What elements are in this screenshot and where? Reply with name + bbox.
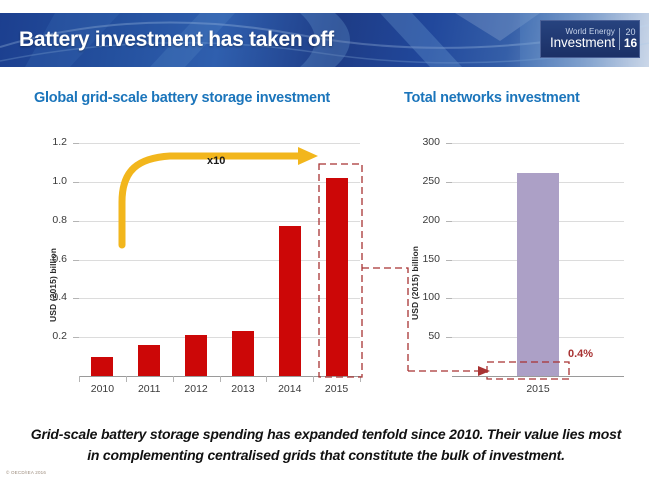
x-tick-label: 2012	[173, 383, 220, 395]
bar	[517, 173, 559, 376]
y-tick-mark	[446, 298, 452, 299]
y-tick-label: 50	[408, 331, 440, 341]
page-title: Battery investment has taken off	[19, 28, 334, 52]
right-chart-title: Total networks investment	[404, 90, 580, 106]
y-tick-label: 100	[408, 292, 440, 302]
logo-line-investment: Investment	[546, 36, 615, 50]
y-tick-mark	[73, 298, 79, 299]
logo-year-short: 16	[622, 37, 639, 49]
share-percentage-label: 0.4%	[568, 348, 593, 360]
bar	[185, 335, 207, 376]
caption-text: Grid-scale battery storage spending has …	[26, 424, 626, 466]
y-tick-label: 200	[408, 215, 440, 225]
right-chart-plot: USD (2015) billion 501001502002503002015	[400, 130, 640, 395]
x-tick-label: 2011	[126, 383, 173, 395]
gridline	[79, 298, 360, 299]
y-tick-mark	[446, 182, 452, 183]
logo-text-block: World Energy Investment	[541, 28, 620, 50]
y-tick-label: 150	[408, 254, 440, 264]
bar	[91, 357, 113, 376]
y-tick-label: 250	[408, 176, 440, 186]
x-tick-separator	[266, 376, 267, 382]
y-tick-mark	[446, 337, 452, 338]
y-tick-mark	[446, 221, 452, 222]
gridline	[79, 337, 360, 338]
y-tick-label: 0.2	[35, 331, 67, 341]
y-tick-mark	[446, 143, 452, 144]
x-tick-separator	[220, 376, 221, 382]
x-tick-label: 2013	[220, 383, 267, 395]
bar	[232, 331, 254, 376]
x-tick-separator	[126, 376, 127, 382]
bar	[138, 345, 160, 376]
x-tick-label: 2010	[79, 383, 126, 395]
x-tick-label: 2015	[313, 383, 360, 395]
growth-arrow-icon	[30, 130, 330, 260]
x-tick-label: 2015	[452, 383, 624, 395]
y-tick-label: 0.4	[35, 292, 67, 302]
x-tick-separator	[360, 376, 361, 382]
x-tick-separator	[313, 376, 314, 382]
x-tick-label: 2014	[266, 383, 313, 395]
x-axis-baseline	[452, 376, 624, 377]
left-chart-title: Global grid-scale battery storage invest…	[34, 90, 330, 106]
y-tick-label: 300	[408, 137, 440, 147]
y-tick-mark	[73, 337, 79, 338]
copyright-notice: © OECD/IEA 2016	[6, 470, 46, 475]
x-tick-separator	[173, 376, 174, 382]
logo-year-block: 20 16	[620, 28, 639, 49]
y-tick-mark	[446, 260, 452, 261]
header-banner: Battery investment has taken off World E…	[0, 13, 649, 67]
x-tick-separator	[79, 376, 80, 382]
growth-multiplier-label: x10	[207, 155, 225, 167]
world-energy-investment-logo: World Energy Investment 20 16	[540, 20, 640, 58]
gridline	[452, 143, 624, 144]
